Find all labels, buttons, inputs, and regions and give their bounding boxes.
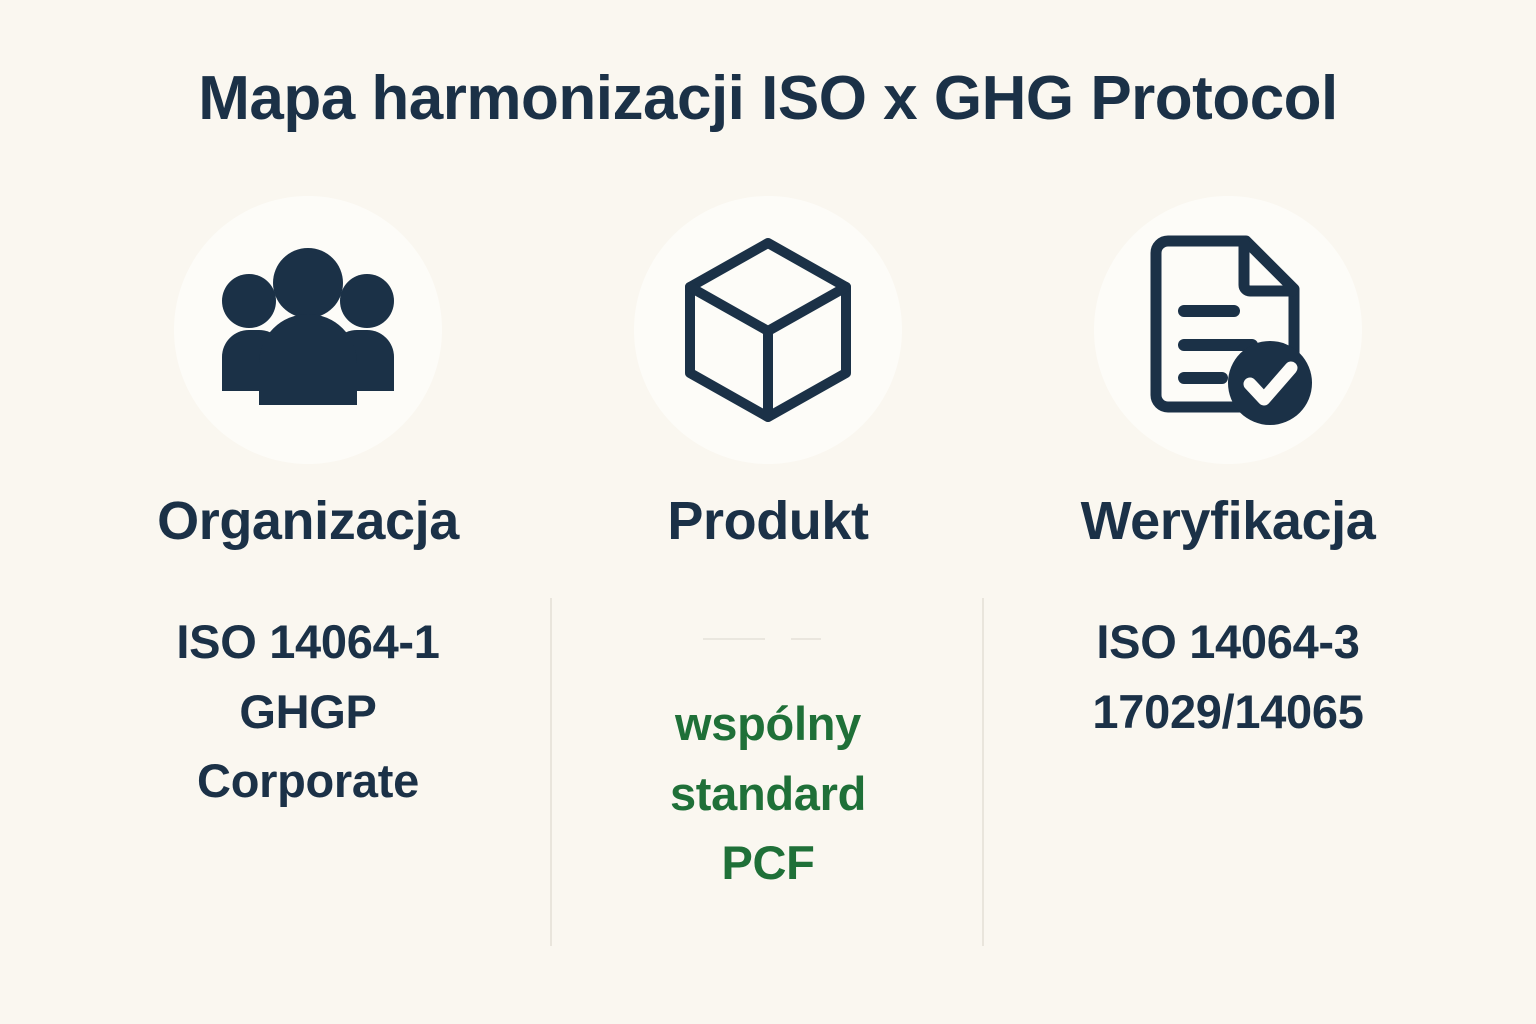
column-heading-produkt: Produkt (667, 492, 868, 551)
column-produkt: Produkt wspólny standard PCF (538, 196, 998, 898)
column-organizacja: Organizacja ISO 14064-1 GHGP Corporate (78, 196, 538, 816)
body-line: ISO 14064-3 (1092, 607, 1363, 677)
columns-container: Organizacja ISO 14064-1 GHGP Corporate P… (0, 196, 1536, 976)
infographic-poster: Mapa harmonizacji ISO x GHG Protocol Org… (0, 0, 1536, 1024)
body-line: PCF (670, 828, 866, 898)
body-line: 17029/14065 (1092, 677, 1363, 747)
column-weryfikacja: Weryfikacja ISO 14064-3 17029/14065 (998, 196, 1458, 746)
faint-residue-mark (703, 638, 833, 641)
column-body-weryfikacja: ISO 14064-3 17029/14065 (1092, 607, 1363, 746)
body-line: Corporate (176, 746, 439, 816)
body-line: standard (670, 759, 866, 829)
icon-circle-organizacja (174, 196, 442, 464)
page-title: Mapa harmonizacji ISO x GHG Protocol (0, 66, 1536, 131)
document-check-icon (1138, 235, 1318, 425)
body-line: GHGP (176, 677, 439, 747)
icon-circle-weryfikacja (1094, 196, 1362, 464)
column-divider-left (550, 598, 552, 946)
column-body-organizacja: ISO 14064-1 GHGP Corporate (176, 607, 439, 816)
cube-icon (680, 235, 856, 425)
column-heading-weryfikacja: Weryfikacja (1081, 492, 1376, 551)
body-line: ISO 14064-1 (176, 607, 439, 677)
icon-circle-produkt (634, 196, 902, 464)
body-line: wspólny (670, 689, 866, 759)
people-group-icon (208, 245, 408, 415)
column-body-produkt: wspólny standard PCF (670, 689, 866, 898)
column-heading-organizacja: Organizacja (157, 492, 459, 551)
column-divider-right (982, 598, 984, 946)
